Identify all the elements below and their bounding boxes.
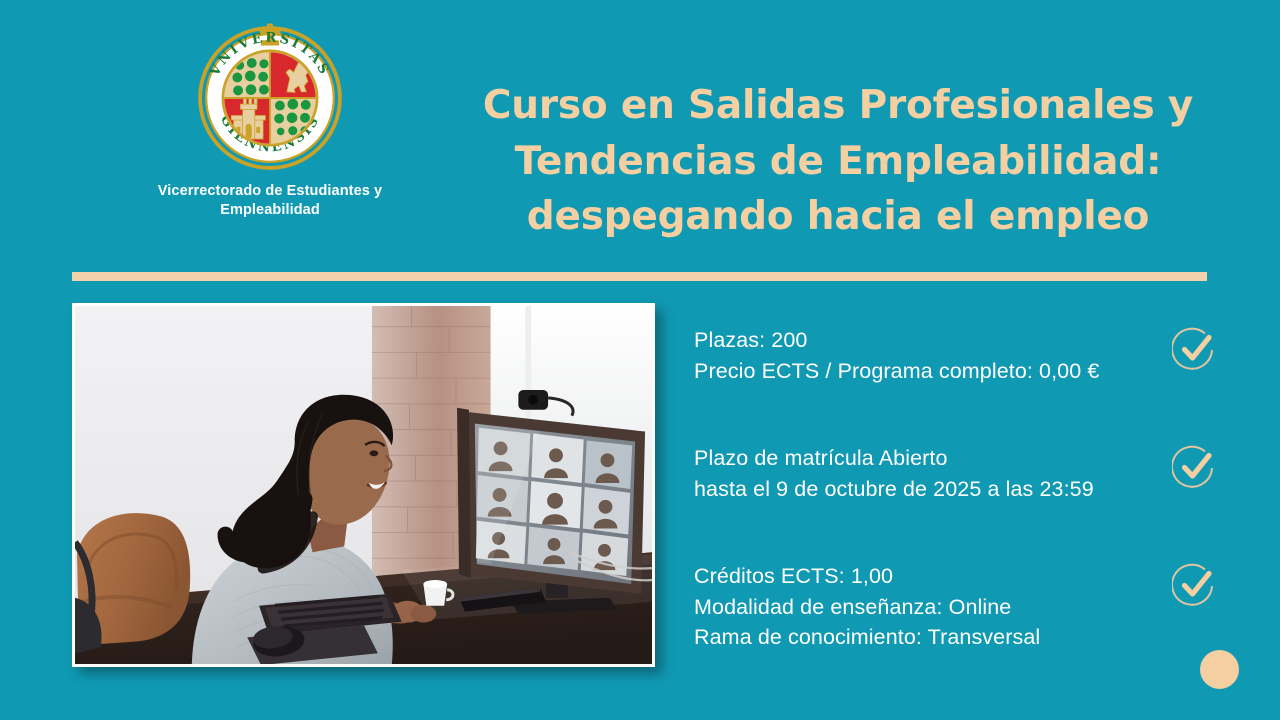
detail-row-creditos: Créditos ECTS: 1,00 Modalidad de enseñan…	[694, 561, 1224, 657]
brand-line-1: Vicerrectorado de Estudiantes y	[158, 183, 382, 199]
check-circle-icon	[1172, 561, 1218, 607]
accent-dot	[1200, 650, 1239, 689]
brand-block: VNIVERSITAS GIENNENSIS	[120, 22, 420, 219]
title-line-3: despegando hacia el empleo	[527, 194, 1150, 239]
detail-text: Plazo de matrícula Abierto hasta el 9 de…	[694, 443, 1224, 504]
detail-row-matricula: Plazo de matrícula Abierto hasta el 9 de…	[694, 443, 1224, 539]
detail-line: hasta el 9 de octubre de 2025 a las 23:5…	[694, 474, 1154, 505]
detail-text: Créditos ECTS: 1,00 Modalidad de enseñan…	[694, 561, 1224, 653]
detail-line: Rama de conocimiento: Transversal	[694, 622, 1154, 653]
detail-text: Plazas: 200 Precio ECTS / Programa compl…	[694, 325, 1224, 386]
brand-line-2: Empleabilidad	[220, 202, 320, 218]
page-title: Curso en Salidas Profesionales y Tendenc…	[452, 78, 1224, 244]
slide-root: VNIVERSITAS GIENNENSIS	[0, 0, 1280, 720]
check-circle-icon	[1172, 325, 1218, 371]
detail-row-plazas: Plazas: 200 Precio ECTS / Programa compl…	[694, 325, 1224, 421]
title-line-1: Curso en Salidas Profesionales y	[483, 83, 1193, 128]
photo-scene	[75, 306, 652, 664]
header-divider	[72, 272, 1207, 281]
brand-name: Vicerrectorado de Estudiantes y Empleabi…	[120, 182, 420, 219]
detail-line: Precio ECTS / Programa completo: 0,00 €	[694, 356, 1154, 387]
detail-line: Modalidad de enseñanza: Online	[694, 592, 1154, 623]
title-line-2: Tendencias de Empleabilidad:	[515, 139, 1162, 184]
check-circle-icon	[1172, 443, 1218, 489]
detail-line: Créditos ECTS: 1,00	[694, 561, 1154, 592]
detail-line: Plazo de matrícula Abierto	[694, 443, 1154, 474]
detail-line: Plazas: 200	[694, 325, 1154, 356]
university-crest-icon: VNIVERSITAS GIENNENSIS	[120, 22, 420, 174]
course-photo	[72, 303, 655, 667]
course-details-list: Plazas: 200 Precio ECTS / Programa compl…	[694, 325, 1224, 679]
